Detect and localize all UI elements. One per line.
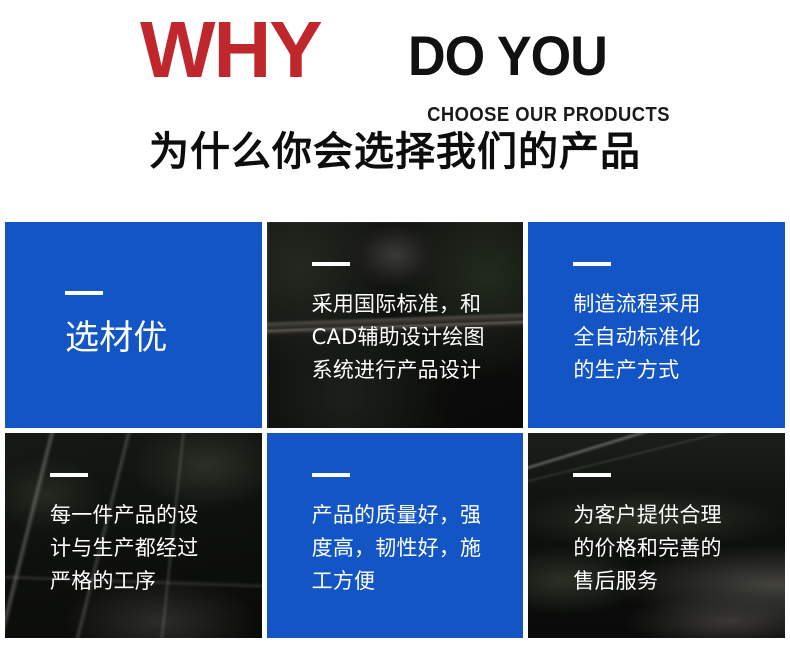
feature-cell-2[interactable]: 采用国际标准，和 CAD辅助设计绘图 系统进行产品设计 — [267, 222, 524, 428]
feature-cell-1[interactable]: 选材优 — [5, 222, 262, 428]
divider-dash-icon — [312, 473, 350, 477]
feature-cell-6[interactable]: 为客户提供合理 的价格和完善的 售后服务 — [528, 433, 785, 639]
feature-cell-1-text: 选材优 — [65, 317, 248, 359]
banner-header: WHY DO YOU CHOOSE OUR PRODUCTS 为什么你会选择我们… — [0, 0, 790, 205]
feature-cell-4-text: 每一件产品的设 计与生产都经过 严格的工序 — [50, 499, 248, 598]
feature-cell-5[interactable]: 产品的质量好，强 度高，韧性好，施 工方便 — [267, 433, 524, 639]
feature-cell-2-text: 采用国际标准，和 CAD辅助设计绘图 系统进行产品设计 — [312, 288, 510, 387]
headline-why: WHY — [140, 10, 321, 90]
feature-grid: 选材优 采用国际标准，和 CAD辅助设计绘图 系统进行产品设计 制造流程采用 全… — [5, 222, 785, 638]
divider-dash-icon — [573, 262, 611, 266]
divider-dash-icon — [65, 291, 103, 295]
divider-dash-icon — [312, 262, 350, 266]
subtitle-chinese: 为什么你会选择我们的产品 — [0, 128, 790, 176]
feature-cell-2-content: 采用国际标准，和 CAD辅助设计绘图 系统进行产品设计 — [267, 222, 524, 428]
headline-choose-our-products: CHOOSE OUR PRODUCTS — [427, 104, 670, 126]
feature-cell-5-text: 产品的质量好，强 度高，韧性好，施 工方便 — [312, 499, 510, 598]
promo-banner: WHY DO YOU CHOOSE OUR PRODUCTS 为什么你会选择我们… — [0, 0, 790, 665]
divider-dash-icon — [50, 473, 88, 477]
feature-cell-3-content: 制造流程采用 全自动标准化 的生产方式 — [528, 222, 785, 428]
feature-cell-4-content: 每一件产品的设 计与生产都经过 严格的工序 — [5, 433, 262, 639]
headline-group: WHY DO YOU CHOOSE OUR PRODUCTS — [140, 16, 670, 96]
feature-cell-3[interactable]: 制造流程采用 全自动标准化 的生产方式 — [528, 222, 785, 428]
divider-dash-icon — [573, 473, 611, 477]
feature-cell-5-content: 产品的质量好，强 度高，韧性好，施 工方便 — [267, 433, 524, 639]
feature-cell-4[interactable]: 每一件产品的设 计与生产都经过 严格的工序 — [5, 433, 262, 639]
headline-do-you: DO YOU — [408, 28, 607, 84]
feature-cell-6-text: 为客户提供合理 的价格和完善的 售后服务 — [573, 499, 771, 598]
feature-cell-3-text: 制造流程采用 全自动标准化 的生产方式 — [573, 288, 771, 387]
feature-cell-1-content: 选材优 — [5, 222, 262, 428]
feature-cell-6-content: 为客户提供合理 的价格和完善的 售后服务 — [528, 433, 785, 639]
